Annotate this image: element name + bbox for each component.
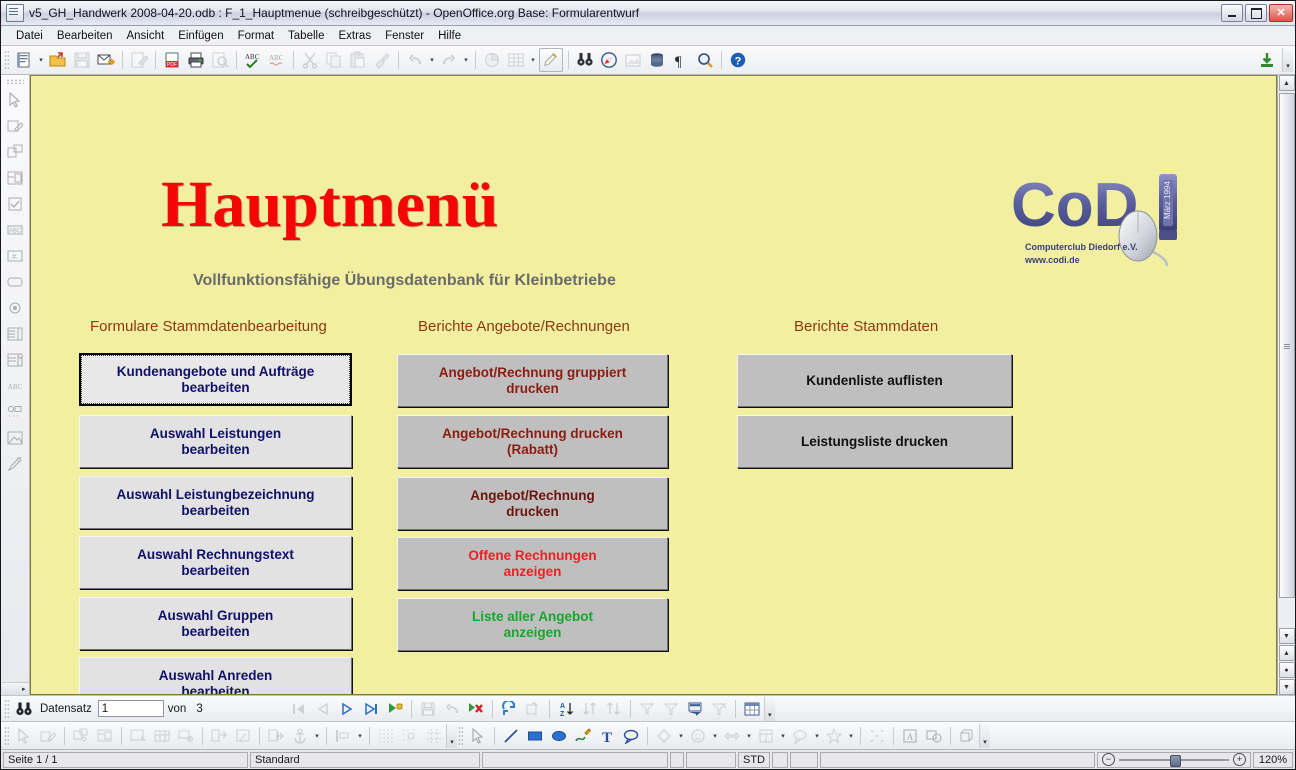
new-record-icon[interactable] <box>384 698 406 720</box>
button-label-line1: Angebot/Rechnung drucken <box>442 426 623 441</box>
align-objects-icon[interactable] <box>332 725 354 747</box>
button-label-line1: Auswahl Leistungen <box>150 426 281 441</box>
toolbar-separator <box>369 727 370 745</box>
page-subtitle: Vollfunktionsfähige Übungsdatenbank für … <box>193 272 616 290</box>
toolbar-separator <box>492 700 493 718</box>
menu-datei[interactable]: Datei <box>9 28 50 44</box>
numeric-field-icon[interactable]: #. <box>4 245 26 267</box>
form-properties-icon[interactable] <box>94 725 116 747</box>
page-title: Hauptmenü <box>161 172 498 238</box>
toolbar-separator <box>893 727 894 745</box>
gallery-icon[interactable] <box>622 49 644 71</box>
insert-chart-icon[interactable] <box>481 49 503 71</box>
last-record-icon[interactable] <box>360 698 382 720</box>
scroll-down-button[interactable]: ▼ <box>1279 628 1295 644</box>
svg-text:ABC: ABC <box>8 383 23 391</box>
toolbar-separator <box>259 727 260 745</box>
combo-box-icon[interactable] <box>4 349 26 371</box>
undo-icon[interactable] <box>404 49 426 71</box>
base-form-icon <box>6 4 24 22</box>
svg-text:#.: #. <box>12 254 18 261</box>
save-record-icon[interactable] <box>417 698 439 720</box>
refresh-icon[interactable] <box>498 698 520 720</box>
text-box-icon[interactable] <box>4 167 26 189</box>
anchor-dropdown-icon[interactable]: ▾ <box>312 725 322 747</box>
insert-table-dropdown-icon[interactable]: ▾ <box>528 49 538 71</box>
form-design-toolbar: ▾ ▾ ▾ T <box>1 721 1295 749</box>
menu-hilfe[interactable]: Hilfe <box>431 28 468 44</box>
record-count: 3 <box>196 703 202 715</box>
form-controls-grip[interactable] <box>6 79 24 84</box>
callout-icon[interactable] <box>620 725 642 747</box>
button-angebot-rechnung-drucken[interactable]: Angebot/Rechnung drucken <box>397 477 668 530</box>
stars-icon[interactable] <box>823 725 845 747</box>
flowchart-dropdown-icon[interactable]: ▾ <box>778 725 788 747</box>
status-signature[interactable] <box>790 752 818 768</box>
button-label-line1: Auswahl Anreden <box>159 668 273 683</box>
design-mode-onoff-icon[interactable] <box>37 725 59 747</box>
toolbar-separator <box>630 700 631 718</box>
window-title: v5_GH_Handwerk 2008-04-20.odb : F_1_Haup… <box>29 6 1221 20</box>
svg-text:¶: ¶ <box>675 54 682 69</box>
send-email-icon[interactable] <box>95 49 117 71</box>
design-mode-toggle-icon[interactable] <box>4 115 26 137</box>
menu-ansicht[interactable]: Ansicht <box>119 28 171 44</box>
logo-stick-label: März 1994 <box>1163 181 1172 219</box>
design-mode-icon[interactable] <box>539 48 563 72</box>
menu-einfuegen[interactable]: Einfügen <box>171 28 230 44</box>
callouts-dropdown-icon[interactable]: ▾ <box>812 725 822 747</box>
toolbar-separator <box>122 51 123 69</box>
callouts-shapes-icon[interactable] <box>789 725 811 747</box>
previous-record-icon[interactable] <box>312 698 334 720</box>
button-auswahl-gruppen[interactable]: Auswahl Gruppen bearbeiten <box>79 597 352 650</box>
button-label-line2: (Rabatt) <box>507 442 558 457</box>
drawing-toolbar-grip[interactable] <box>458 726 463 746</box>
zoom-value[interactable]: 120% <box>1253 752 1293 768</box>
button-offene-rechnungen-anzeigen[interactable]: Offene Rechnungen anzeigen <box>397 537 668 590</box>
status-modified <box>772 752 788 768</box>
sort-ascending-icon[interactable]: AZ <box>555 698 577 720</box>
helplines-icon[interactable] <box>423 725 445 747</box>
button-label-line2: bearbeiten <box>181 563 249 578</box>
new-document-dropdown-icon[interactable]: ▾ <box>36 49 46 71</box>
text-box-drawing-icon[interactable]: T <box>596 725 618 747</box>
more-controls-icon[interactable] <box>4 453 26 475</box>
form-canvas: Hauptmenü Vollfunktionsfähige Übungsdate… <box>30 75 1277 695</box>
svg-text:A: A <box>907 732 914 742</box>
menu-extras[interactable]: Extras <box>331 28 378 44</box>
zoom-in-button[interactable]: + <box>1233 753 1246 766</box>
help-icon[interactable]: ? <box>727 49 749 71</box>
undo-record-icon[interactable] <box>441 698 463 720</box>
toolbar-separator <box>475 51 476 69</box>
drawing-toolbar-expand-button[interactable]: ▾ <box>979 724 990 748</box>
remove-filter-icon[interactable] <box>708 698 730 720</box>
symbol-shapes-dropdown-icon[interactable]: ▾ <box>710 725 720 747</box>
toolbar-separator <box>64 727 65 745</box>
display-grid-icon[interactable] <box>375 725 397 747</box>
form-design-grip[interactable] <box>4 726 9 746</box>
status-bar: Seite 1 / 1 Standard STD − + 120% <box>1 749 1295 769</box>
scroll-up-button[interactable]: ▲ <box>1279 75 1295 91</box>
check-box-icon[interactable] <box>4 193 26 215</box>
button-label-line2: bearbeiten <box>181 380 249 395</box>
standard-filter-icon[interactable] <box>660 698 682 720</box>
copy-icon[interactable] <box>323 49 345 71</box>
drawing-select-icon[interactable] <box>467 725 489 747</box>
button-angebot-rechnung-gruppiert-drucken[interactable]: Angebot/Rechnung gruppiert drucken <box>397 354 668 407</box>
button-label-line1: Angebot/Rechnung gruppiert <box>439 365 626 380</box>
export-pdf-icon[interactable]: PDF <box>161 49 183 71</box>
stars-dropdown-icon[interactable]: ▾ <box>846 725 856 747</box>
autospellcheck-icon[interactable]: ABC <box>266 49 288 71</box>
title-bar: v5_GH_Handwerk 2008-04-20.odb : F_1_Haup… <box>1 1 1295 26</box>
svg-text:T: T <box>602 730 612 744</box>
button-label-line2: bearbeiten <box>181 442 249 457</box>
menu-format[interactable]: Format <box>231 28 281 44</box>
option-button-icon[interactable] <box>4 297 26 319</box>
svg-text:?: ? <box>735 56 742 68</box>
sort-za-icon[interactable] <box>603 698 625 720</box>
redo-icon[interactable] <box>438 49 460 71</box>
button-label-line2: bearbeiten <box>181 624 249 639</box>
status-info <box>820 752 1095 768</box>
form-navigator-icon[interactable] <box>127 725 149 747</box>
download-updates-icon[interactable] <box>1258 51 1276 69</box>
record-input[interactable] <box>98 700 164 717</box>
select-tool-icon[interactable] <box>4 89 26 111</box>
toolbar-separator <box>155 51 156 69</box>
freeform-line-icon[interactable] <box>572 725 594 747</box>
svg-text:ABC: ABC <box>269 54 284 62</box>
data-source-as-table-icon[interactable] <box>741 698 763 720</box>
spelling-check-icon[interactable]: ABC <box>242 49 264 71</box>
fontwork-icon[interactable]: A <box>899 725 921 747</box>
svg-text:ABC: ABC <box>9 229 22 235</box>
status-language[interactable] <box>482 752 668 768</box>
toolbar-separator <box>293 51 294 69</box>
svg-text:PDF: PDF <box>167 62 177 68</box>
toolbar-grip[interactable] <box>4 50 9 70</box>
delete-record-icon[interactable] <box>465 698 487 720</box>
toolbar-separator <box>121 727 122 745</box>
work-area: ABC #. ABC <box>1 75 1295 695</box>
design-toolbar-expand-button[interactable]: ▾ <box>446 724 457 748</box>
toolbar-separator <box>411 700 412 718</box>
minimize-button[interactable] <box>1221 4 1243 22</box>
window-controls: ✕ <box>1221 4 1293 22</box>
button-label-line2: bearbeiten <box>181 684 249 696</box>
button-label-line1: Kundenliste auflisten <box>802 373 947 389</box>
vertical-scrollbar[interactable]: ▲ ▼ ▲ ● ▼ <box>1277 75 1295 695</box>
svg-text:ABC: ABC <box>245 53 260 61</box>
toolbar-separator <box>398 51 399 69</box>
control-properties-icon[interactable] <box>70 725 92 747</box>
menu-bar: Datei Bearbeiten Ansicht Einfügen Format… <box>1 26 1295 46</box>
add-field-icon[interactable] <box>175 725 197 747</box>
block-arrows-dropdown-icon[interactable]: ▾ <box>744 725 754 747</box>
button-auswahl-leistungbezeichnung[interactable]: Auswahl Leistungbezeichnung bearbeiten <box>79 476 352 529</box>
toolbar-expand-button[interactable]: ▾ <box>1282 48 1293 72</box>
button-label-line1: Auswahl Gruppen <box>158 608 274 623</box>
button-label-line1: Kundenangebote und Aufträge <box>117 364 315 379</box>
refresh-controls-icon[interactable] <box>522 698 544 720</box>
from-file-icon[interactable] <box>923 725 945 747</box>
formatting-marks-icon[interactable]: ¶ <box>670 49 692 71</box>
scrollbar-track[interactable] <box>1279 91 1295 628</box>
logo-line1: Computerclub Diedorf e.V. <box>1025 242 1138 252</box>
maximize-button[interactable] <box>1245 4 1267 22</box>
group-box-icon[interactable] <box>4 401 26 423</box>
snap-to-grid-icon[interactable] <box>399 725 421 747</box>
zoom-out-button[interactable]: − <box>1102 753 1115 766</box>
block-arrows-icon[interactable] <box>721 725 743 747</box>
button-label-line2: drucken <box>506 381 559 396</box>
svg-text:Z: Z <box>560 711 565 717</box>
navigation-target-button[interactable]: ● <box>1279 662 1295 678</box>
insert-table-icon[interactable] <box>505 49 527 71</box>
save-document-icon[interactable] <box>71 49 93 71</box>
toolbar-overflow: ▾ <box>1258 48 1293 72</box>
edit-file-icon[interactable] <box>128 49 150 71</box>
toolbar-separator <box>721 51 722 69</box>
button-auswahl-rechnungstext[interactable]: Auswahl Rechnungstext bearbeiten <box>79 536 352 589</box>
align-dropdown-icon[interactable]: ▾ <box>355 725 365 747</box>
codi-logo: CoD März 1994 Computerclub Diedorf e.V. … <box>1003 164 1218 269</box>
toolbar-separator <box>549 700 550 718</box>
line-icon[interactable] <box>500 725 522 747</box>
zoom-icon[interactable] <box>694 49 716 71</box>
zoom-slider-control[interactable]: − + <box>1097 752 1251 768</box>
rectangle-icon[interactable] <box>524 725 546 747</box>
button-label-line1: Offene Rechnungen <box>468 548 596 563</box>
flowchart-icon[interactable] <box>755 725 777 747</box>
column-heading-formulare: Formulare Stammdatenbearbeitung <box>90 318 327 335</box>
image-control-icon[interactable] <box>4 427 26 449</box>
symbol-shapes-icon[interactable] <box>687 725 709 747</box>
toolbar-separator <box>494 727 495 745</box>
toolbar-separator <box>202 727 203 745</box>
open-document-icon[interactable] <box>47 49 69 71</box>
button-label-line1: Liste aller Angebot <box>472 609 593 624</box>
new-document-icon[interactable] <box>13 49 35 71</box>
button-kundenliste-auflisten[interactable]: Kundenliste auflisten <box>737 354 1012 407</box>
record-of-label: von <box>168 703 187 715</box>
navigator-icon[interactable] <box>598 49 620 71</box>
status-cell-a <box>670 752 684 768</box>
button-label-line2: drucken <box>506 504 559 519</box>
open-in-design-icon[interactable] <box>232 725 254 747</box>
status-selection-mode[interactable]: STD <box>738 752 770 768</box>
list-box-icon[interactable] <box>4 323 26 345</box>
status-page: Seite 1 / 1 <box>3 752 248 768</box>
undo-dropdown-icon[interactable]: ▾ <box>427 49 437 71</box>
extrusion-onoff-icon[interactable] <box>956 725 978 747</box>
label-field-icon[interactable] <box>4 141 26 163</box>
status-page-style[interactable]: Standard <box>250 752 480 768</box>
openoffice-base-window: v5_GH_Handwerk 2008-04-20.odb : F_1_Haup… <box>0 0 1296 770</box>
scrollbar-thumb[interactable] <box>1279 93 1295 598</box>
find-replace-icon[interactable] <box>574 49 596 71</box>
logo-line2: www.codi.de <box>1024 255 1080 265</box>
button-label-line1: Leistungsliste drucken <box>797 434 952 450</box>
column-heading-berichte-stammdaten: Berichte Stammdaten <box>794 318 938 335</box>
data-sources-icon[interactable] <box>646 49 668 71</box>
button-label-line2: anzeigen <box>504 625 562 640</box>
button-label-line1: Auswahl Leistungbezeichnung <box>116 487 314 502</box>
zoom-knob[interactable] <box>1170 755 1181 767</box>
clone-formatting-icon[interactable] <box>371 49 393 71</box>
paste-icon[interactable] <box>347 49 369 71</box>
button-liste-aller-angebot-anzeigen[interactable]: Liste aller Angebot anzeigen <box>397 598 668 651</box>
sort-az-icon[interactable] <box>579 698 601 720</box>
button-label-line1: Angebot/Rechnung <box>470 488 595 503</box>
form-page: Hauptmenü Vollfunktionsfähige Übungsdate… <box>30 75 1277 695</box>
toolbar-separator <box>568 51 569 69</box>
menu-bearbeiten[interactable]: Bearbeiten <box>50 28 120 44</box>
autofilter-icon[interactable] <box>636 698 658 720</box>
next-page-button[interactable]: ▼ <box>1279 679 1295 695</box>
button-kundenangebote-auftraege[interactable]: Kundenangebote und Aufträge bearbeiten <box>79 353 352 406</box>
button-auswahl-anreden[interactable]: Auswahl Anreden bearbeiten <box>79 657 352 695</box>
print-preview-icon[interactable] <box>209 49 231 71</box>
navbar-expand-button[interactable]: ▾ <box>764 697 775 721</box>
toolbar-separator <box>735 700 736 718</box>
form-filter-icon[interactable] <box>684 698 706 720</box>
svg-text:A: A <box>560 703 565 710</box>
binoculars-icon[interactable] <box>13 698 35 720</box>
toolbar-separator <box>236 51 237 69</box>
push-button-icon[interactable] <box>4 271 26 293</box>
label-text-icon[interactable]: ABC <box>4 375 26 397</box>
toolbar-separator <box>326 727 327 745</box>
toolbar-separator <box>950 727 951 745</box>
previous-page-button[interactable]: ▲ <box>1279 645 1295 661</box>
close-button[interactable]: ✕ <box>1269 4 1293 22</box>
form-navigation-bar: Datensatz von 3 <box>1 695 1295 721</box>
points-icon[interactable] <box>866 725 888 747</box>
button-label-line2: anzeigen <box>504 564 562 579</box>
formatted-field-icon[interactable]: ABC <box>4 219 26 241</box>
basic-shapes-dropdown-icon[interactable]: ▾ <box>676 725 686 747</box>
select-icon[interactable] <box>13 725 35 747</box>
menu-fenster[interactable]: Fenster <box>378 28 431 44</box>
position-size-icon[interactable] <box>265 725 287 747</box>
redo-dropdown-icon[interactable]: ▾ <box>461 49 471 71</box>
tab-order-icon[interactable] <box>151 725 173 747</box>
column-heading-berichte-angebote: Berichte Angebote/Rechnungen <box>418 318 630 335</box>
basic-shapes-icon[interactable] <box>653 725 675 747</box>
form-navigation-grip[interactable] <box>4 699 9 719</box>
anchor-icon[interactable] <box>289 725 311 747</box>
menu-tabelle[interactable]: Tabelle <box>281 28 331 44</box>
next-record-icon[interactable] <box>336 698 358 720</box>
form-controls-toolbar: ABC #. ABC <box>1 75 30 695</box>
button-leistungsliste-drucken[interactable]: Leistungsliste drucken <box>737 415 1012 468</box>
status-cell-b <box>686 752 736 768</box>
record-label: Datensatz <box>40 703 92 715</box>
toolbar-separator <box>860 727 861 745</box>
activation-order-icon[interactable] <box>208 725 230 747</box>
zoom-track[interactable] <box>1119 759 1229 761</box>
button-label-line2: bearbeiten <box>181 503 249 518</box>
cut-icon[interactable] <box>299 49 321 71</box>
print-icon[interactable] <box>185 49 207 71</box>
first-record-icon[interactable] <box>288 698 310 720</box>
ellipse-icon[interactable] <box>548 725 570 747</box>
button-auswahl-leistungen[interactable]: Auswahl Leistungen bearbeiten <box>79 415 352 468</box>
button-angebot-rechnung-drucken-rabatt[interactable]: Angebot/Rechnung drucken (Rabatt) <box>397 415 668 468</box>
standard-toolbar: ▾ PDF ABC ABC <box>1 46 1295 75</box>
form-controls-expand-button[interactable]: ▸ <box>2 682 29 695</box>
button-label-line1: Auswahl Rechnungstext <box>137 547 294 562</box>
toolbar-separator <box>647 727 648 745</box>
